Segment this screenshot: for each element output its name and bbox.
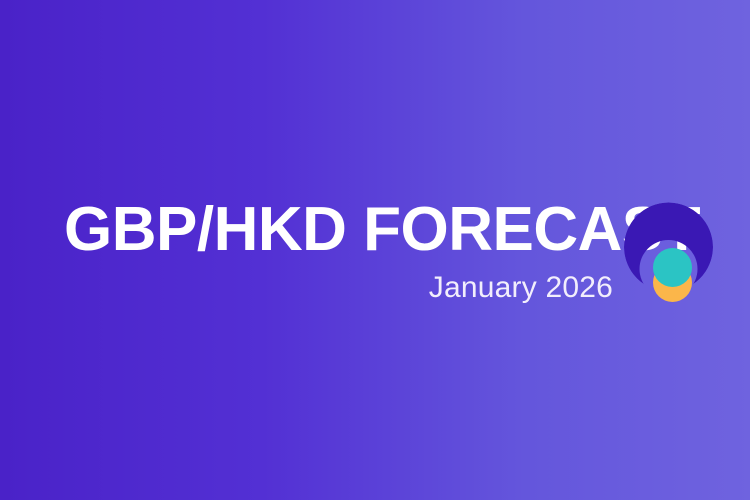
forecast-banner: GBP/HKD FORECAST January 2026 — [0, 0, 750, 500]
page-title: GBP/HKD FORECAST — [64, 196, 613, 264]
brand-logo — [620, 186, 720, 311]
teal-circle-icon — [653, 248, 692, 287]
banner-text-block: GBP/HKD FORECAST January 2026 — [64, 196, 613, 306]
banner-subtitle: January 2026 — [64, 270, 613, 306]
